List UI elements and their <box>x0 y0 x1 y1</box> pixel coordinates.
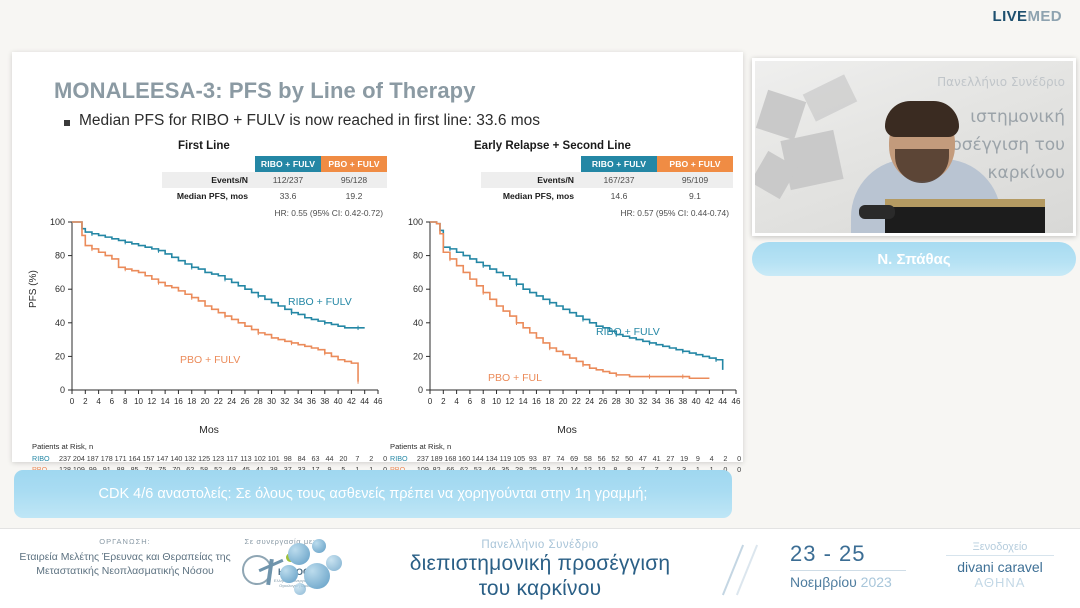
risk-value: 134 <box>485 453 499 464</box>
risk-value: 204 <box>72 453 86 464</box>
conference-pre-title: Πανελλήνιο Συνέδριο <box>360 539 720 551</box>
risk-value: 84 <box>295 453 309 464</box>
svg-text:2: 2 <box>441 397 446 406</box>
stats-row-label: Median PFS, mos <box>481 188 581 204</box>
svg-text:26: 26 <box>599 397 608 406</box>
venue-city: ΑΘΗΝΑ <box>930 575 1070 590</box>
molecule-circle <box>294 583 306 595</box>
svg-text:0: 0 <box>70 397 75 406</box>
risk-value: 56 <box>595 453 609 464</box>
backdrop-text-line-1: Πανελλήνιο Συνέδριο <box>937 75 1065 89</box>
stats-row-label: Events/N <box>481 172 581 188</box>
speaker-hair <box>885 101 959 137</box>
risk-value: 41 <box>650 453 664 464</box>
brand-part-med: MED <box>1027 8 1062 25</box>
stats-cell-ribo: 167/237 <box>581 172 657 188</box>
svg-text:22: 22 <box>214 397 223 406</box>
patients-at-risk-row-ribo: RIBO 23720418717817116415714714013212512… <box>32 453 392 464</box>
risk-value: 125 <box>197 453 211 464</box>
svg-text:28: 28 <box>612 397 621 406</box>
risk-value: 101 <box>267 453 281 464</box>
livemed-logo: LIVEMED <box>993 8 1063 25</box>
video-player[interactable]: Πανελλήνιο Συνέδριο ιστημονική οσέγγιση … <box>752 58 1076 236</box>
risk-value: 47 <box>636 453 650 464</box>
svg-text:34: 34 <box>652 397 661 406</box>
stats-table-first-line: RIBO + FULV PBO + FULV Events/N 112/237 … <box>162 156 387 218</box>
molecule-graphic <box>278 539 354 599</box>
stats-row-median: Median PFS, mos 33.6 19.2 <box>162 188 387 204</box>
svg-text:0: 0 <box>418 385 423 395</box>
svg-text:10: 10 <box>492 397 501 406</box>
date-rule <box>790 570 906 571</box>
svg-text:0: 0 <box>60 385 65 395</box>
slide-bullet: Median PFS for RIBO + FULV is now reache… <box>64 112 540 130</box>
svg-text:0: 0 <box>428 397 433 406</box>
svg-text:60: 60 <box>413 284 423 294</box>
svg-text:8: 8 <box>481 397 486 406</box>
risk-value: 187 <box>86 453 100 464</box>
chart-x-axis-label: Mos <box>30 424 388 436</box>
svg-text:32: 32 <box>280 397 289 406</box>
svg-text:20: 20 <box>559 397 568 406</box>
risk-value: 93 <box>526 453 540 464</box>
date-year: 2023 <box>861 574 892 590</box>
stats-header-row: RIBO + FULV PBO + FULV <box>162 156 387 172</box>
patients-at-risk-row-ribo: RIBO 23718916816014413411910593877469585… <box>390 453 746 464</box>
svg-text:14: 14 <box>519 397 528 406</box>
risk-value: 132 <box>183 453 197 464</box>
chart-x-axis-label: Mos <box>388 424 746 436</box>
stats-table-early-relapse: RIBO + FULV PBO + FULV Events/N 167/237 … <box>481 156 733 218</box>
svg-text:40: 40 <box>55 318 65 328</box>
svg-text:30: 30 <box>267 397 276 406</box>
stats-header-spacer <box>162 156 255 172</box>
footer-date: 23 - 25 Νοεμβρίου 2023 <box>790 541 920 590</box>
stats-row-events: Events/N 112/237 95/128 <box>162 172 387 188</box>
svg-text:100: 100 <box>408 217 423 227</box>
risk-value: 123 <box>211 453 225 464</box>
risk-value: 117 <box>225 453 239 464</box>
svg-text:36: 36 <box>665 397 674 406</box>
stats-col-ribo: RIBO + FULV <box>255 156 321 172</box>
brand-part-live: LIVE <box>993 8 1028 25</box>
svg-text:4: 4 <box>96 397 101 406</box>
risk-value: 147 <box>155 453 169 464</box>
risk-value: 171 <box>114 453 128 464</box>
svg-text:100: 100 <box>50 217 65 227</box>
stats-col-ribo: RIBO + FULV <box>581 156 657 172</box>
stats-row-label: Median PFS, mos <box>162 188 255 204</box>
svg-text:36: 36 <box>307 397 316 406</box>
stats-cell-ribo: 14.6 <box>581 188 657 204</box>
conference-title-line-1: διεπιστημονική προσέγγιση <box>360 551 720 576</box>
svg-text:40: 40 <box>334 397 343 406</box>
curve-label-pbo: PBO + FUL <box>488 372 542 384</box>
risk-value: 9 <box>691 453 705 464</box>
risk-value: 19 <box>677 453 691 464</box>
panel-heading-early-relapse: Early Relapse + Second Line <box>474 140 631 152</box>
svg-text:24: 24 <box>585 397 594 406</box>
stats-cell-ribo: 112/237 <box>255 172 321 188</box>
risk-value: 157 <box>142 453 156 464</box>
risk-value: 7 <box>350 453 364 464</box>
molecule-circle <box>280 565 298 583</box>
svg-text:16: 16 <box>174 397 183 406</box>
svg-text:26: 26 <box>241 397 250 406</box>
svg-text:12: 12 <box>147 397 156 406</box>
footer-divider-graphic <box>718 545 778 595</box>
risk-value: 63 <box>309 453 323 464</box>
svg-text:8: 8 <box>123 397 128 406</box>
svg-text:38: 38 <box>320 397 329 406</box>
svg-text:46: 46 <box>374 397 383 406</box>
stats-cell-pbo: 95/109 <box>657 172 733 188</box>
risk-value: 113 <box>239 453 253 464</box>
risk-value: 87 <box>540 453 554 464</box>
date-days: 23 - 25 <box>790 541 920 567</box>
svg-text:20: 20 <box>413 351 423 361</box>
svg-text:40: 40 <box>692 397 701 406</box>
svg-text:46: 46 <box>732 397 741 406</box>
presentation-slide: MONALEESA-3: PFS by Line of Therapy Medi… <box>12 52 743 462</box>
stats-header-row: RIBO + FULV PBO + FULV <box>481 156 733 172</box>
km-chart-first-line: PFS (%) 02468101214161820222426283032343… <box>30 212 388 434</box>
stats-col-pbo: PBO + FULV <box>657 156 733 172</box>
svg-text:24: 24 <box>227 397 236 406</box>
risk-row-values: 2371891681601441341191059387746958565250… <box>416 453 746 464</box>
svg-text:34: 34 <box>294 397 303 406</box>
risk-value: 178 <box>100 453 114 464</box>
risk-row-values: 2372041871781711641571471401321251231171… <box>58 453 392 464</box>
curve-label-pbo: PBO + FULV <box>180 354 240 366</box>
curve-label-ribo: RIBO + FULV <box>288 296 352 308</box>
risk-value: 0 <box>732 453 746 464</box>
conference-title-line-2: του καρκίνου <box>360 576 720 601</box>
svg-text:40: 40 <box>413 318 423 328</box>
bullet-square-icon <box>64 120 70 126</box>
podium-edge <box>885 199 1045 207</box>
svg-text:10: 10 <box>134 397 143 406</box>
svg-text:28: 28 <box>254 397 263 406</box>
svg-text:18: 18 <box>545 397 554 406</box>
svg-text:4: 4 <box>454 397 459 406</box>
conference-footer: ΟΡΓΑΝΩΣΗ: Εταιρεία Μελέτης Έρευνας και Θ… <box>0 528 1080 608</box>
svg-text:2: 2 <box>83 397 88 406</box>
patients-at-risk-title: Patients at Risk, n <box>390 442 746 451</box>
stats-cell-pbo: 95/128 <box>321 172 387 188</box>
svg-text:42: 42 <box>347 397 356 406</box>
footer-venue: Ξενοδοχείο divani caravel ΑΘΗΝΑ <box>930 541 1070 590</box>
svg-text:44: 44 <box>360 397 369 406</box>
date-month-year: Νοεμβρίου 2023 <box>790 574 920 590</box>
risk-value: 160 <box>457 453 471 464</box>
svg-text:20: 20 <box>201 397 210 406</box>
svg-text:6: 6 <box>468 397 473 406</box>
risk-value: 2 <box>719 453 733 464</box>
risk-value: 0 <box>732 464 746 475</box>
venue-rule <box>946 555 1054 556</box>
stats-row-events: Events/N 167/237 95/109 <box>481 172 733 188</box>
svg-text:38: 38 <box>678 397 687 406</box>
risk-value: 144 <box>471 453 485 464</box>
stats-cell-pbo: 9.1 <box>657 188 733 204</box>
microphone-icon <box>859 205 895 219</box>
svg-text:44: 44 <box>718 397 727 406</box>
molecule-circle <box>326 555 342 571</box>
stats-row-label: Events/N <box>162 172 255 188</box>
stats-col-pbo: PBO + FULV <box>321 156 387 172</box>
patients-at-risk-title: Patients at Risk, n <box>32 442 392 451</box>
risk-value: 140 <box>169 453 183 464</box>
risk-row-label: RIBO <box>390 453 416 464</box>
screen-root: LIVEMED MONALEESA-3: PFS by Line of Ther… <box>0 0 1080 608</box>
venue-name: divani caravel <box>930 559 1070 575</box>
curve-label-ribo: RIBO + FULV <box>596 326 660 338</box>
km-chart-early-relapse: 0246810121416182022242628303234363840424… <box>388 212 746 434</box>
video-frame[interactable]: Πανελλήνιο Συνέδριο ιστημονική οσέγγιση … <box>752 58 1076 236</box>
svg-text:12: 12 <box>505 397 514 406</box>
risk-value: 27 <box>664 453 678 464</box>
risk-value: 44 <box>323 453 337 464</box>
svg-text:14: 14 <box>161 397 170 406</box>
slide-title: MONALEESA-3: PFS by Line of Therapy <box>54 78 476 104</box>
question-banner: CDK 4/6 αναστολείς: Σε όλους τους ασθενε… <box>14 470 732 518</box>
risk-value: 98 <box>281 453 295 464</box>
svg-text:42: 42 <box>705 397 714 406</box>
svg-text:18: 18 <box>187 397 196 406</box>
risk-value: 119 <box>499 453 513 464</box>
slide-bullet-text: Median PFS for RIBO + FULV is now reache… <box>79 112 540 130</box>
stats-cell-ribo: 33.6 <box>255 188 321 204</box>
risk-value: 74 <box>554 453 568 464</box>
stats-cell-pbo: 19.2 <box>321 188 387 204</box>
svg-text:22: 22 <box>572 397 581 406</box>
risk-value: 69 <box>567 453 581 464</box>
speaker-name-badge: Ν. Σπάθας <box>752 242 1076 276</box>
svg-text:30: 30 <box>625 397 634 406</box>
svg-text:80: 80 <box>55 251 65 261</box>
risk-value: 20 <box>336 453 350 464</box>
risk-value: 52 <box>609 453 623 464</box>
risk-value: 105 <box>512 453 526 464</box>
stats-row-median: Median PFS, mos 14.6 9.1 <box>481 188 733 204</box>
svg-text:6: 6 <box>110 397 115 406</box>
venue-caption: Ξενοδοχείο <box>930 541 1070 553</box>
risk-value: 168 <box>444 453 458 464</box>
chart-y-axis-label: PFS (%) <box>28 270 39 308</box>
panel-heading-first-line: First Line <box>178 140 230 152</box>
km-chart-svg-first-line: 0246810121416182022242628303234363840424… <box>30 212 388 422</box>
svg-text:32: 32 <box>638 397 647 406</box>
risk-value: 164 <box>128 453 142 464</box>
risk-value: 102 <box>253 453 267 464</box>
risk-row-label: RIBO <box>32 453 58 464</box>
stats-header-spacer <box>481 156 581 172</box>
molecule-circle <box>312 539 326 553</box>
svg-text:60: 60 <box>55 284 65 294</box>
risk-value: 237 <box>58 453 72 464</box>
date-month: Νοεμβρίου <box>790 574 857 590</box>
risk-value: 58 <box>581 453 595 464</box>
risk-value: 237 <box>416 453 430 464</box>
risk-value: 50 <box>622 453 636 464</box>
svg-text:16: 16 <box>532 397 541 406</box>
svg-text:80: 80 <box>413 251 423 261</box>
molecule-circle <box>288 543 310 565</box>
km-chart-svg-early-relapse: 0246810121416182022242628303234363840424… <box>388 212 746 422</box>
risk-value: 2 <box>364 453 378 464</box>
svg-text:20: 20 <box>55 351 65 361</box>
risk-value: 4 <box>705 453 719 464</box>
footer-conference-title: Πανελλήνιο Συνέδριο διεπιστημονική προσέ… <box>360 539 720 601</box>
risk-value: 189 <box>430 453 444 464</box>
